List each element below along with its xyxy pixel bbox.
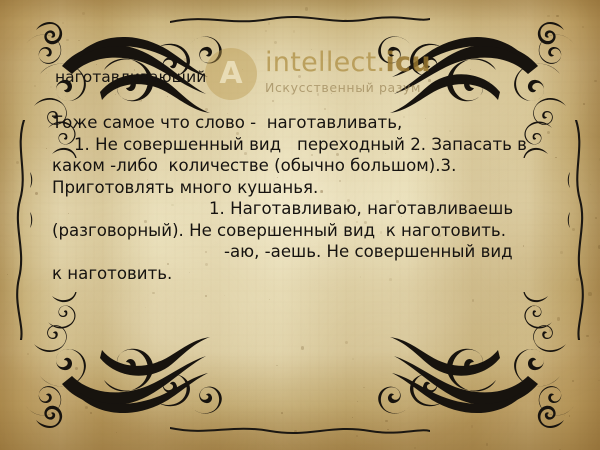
definition-line: -аю, -аешь. Не совершенный вид	[52, 241, 557, 263]
page-title: наготавливающий	[55, 70, 206, 86]
definition-line: каком -либо количестве (обычно большом).…	[52, 155, 557, 177]
definition-line: к наготовить.	[52, 263, 557, 285]
definition-line: 1. Наготавливаю, наготавливаешь	[52, 198, 557, 220]
definition-line: Приготовлять много кушанья.	[52, 177, 557, 199]
entry-definition-block: Тоже самое что слово - наготавливать, 1.…	[52, 112, 557, 284]
definition-line: Тоже самое что слово - наготавливать,	[52, 112, 557, 134]
definition-line: 1. Не совершенный вид переходный 2. Запа…	[52, 134, 557, 156]
definition-line: (разговорный). Не совершенный вид к наго…	[52, 220, 557, 242]
dictionary-card: A intellect.icu Искусственный разум наго…	[0, 0, 600, 450]
